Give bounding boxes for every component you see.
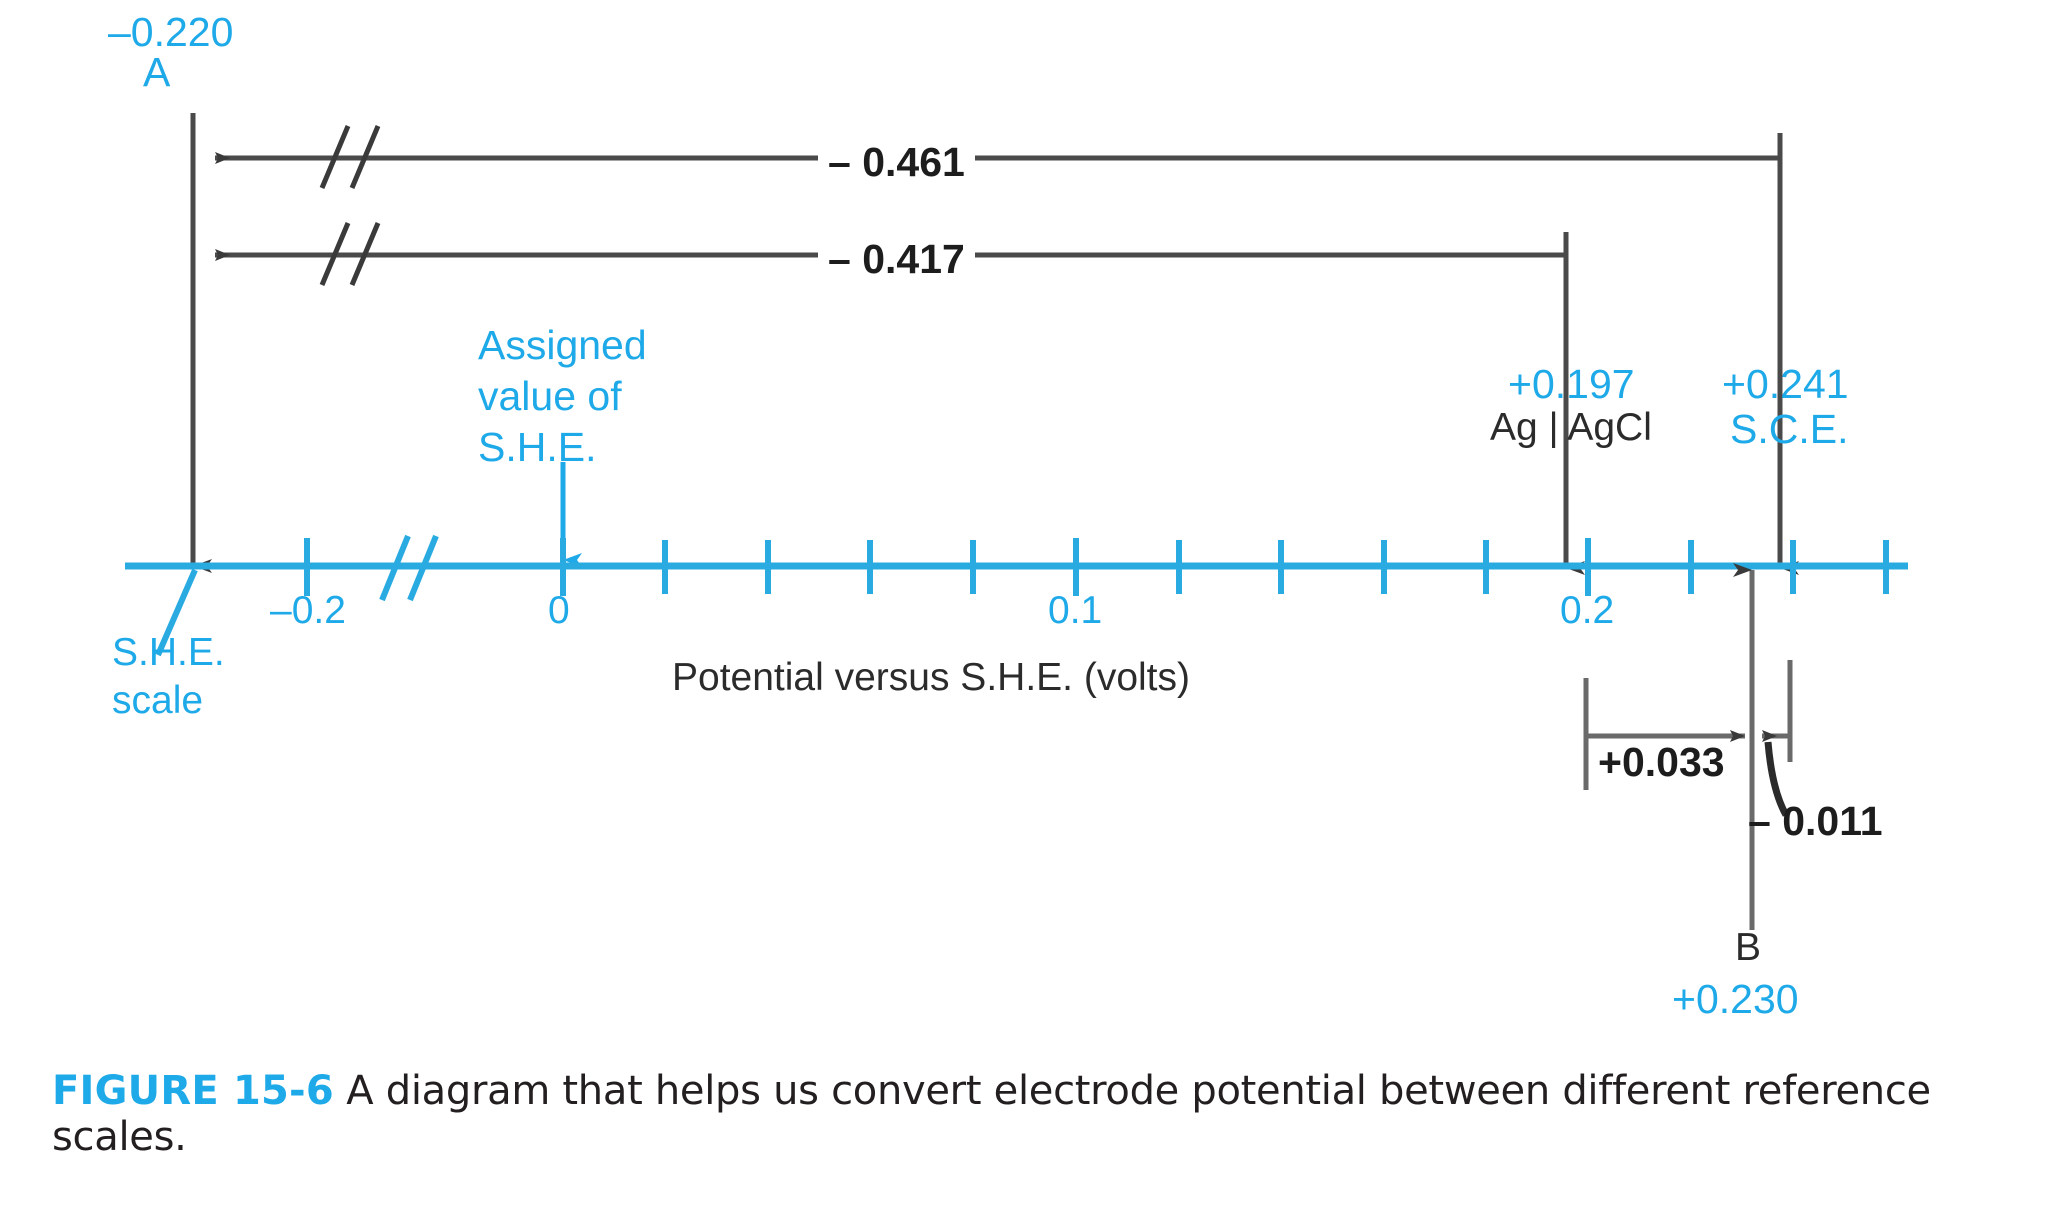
figure-caption: FIGURE 15-6 A diagram that helps us conv… xyxy=(52,1068,2012,1160)
point-b-name: B xyxy=(1735,925,1761,971)
she-scale-line1: S.H.E. xyxy=(112,630,225,676)
span-line-0461 xyxy=(215,126,1780,560)
sce-value: +0.241 xyxy=(1722,360,1849,408)
sce-name: S.C.E. xyxy=(1730,405,1848,453)
span-label-0461: – 0.461 xyxy=(818,138,975,186)
ag-agcl-value: +0.197 xyxy=(1508,360,1635,408)
point-b-value: +0.230 xyxy=(1672,975,1799,1023)
span-label-0033: +0.033 xyxy=(1598,738,1725,786)
assigned-she-line1: Assigned xyxy=(478,320,647,372)
she-scale-line2: scale xyxy=(112,678,203,724)
span-label-0417: – 0.417 xyxy=(818,235,975,283)
axis-tick-label-neg02: –0.2 xyxy=(270,588,346,634)
ag-agcl-name: Ag | AgCl xyxy=(1490,405,1652,451)
figure-number: FIGURE 15-6 xyxy=(52,1068,334,1114)
axis-tick-label-zero: 0 xyxy=(548,588,570,634)
axis-title: Potential versus S.H.E. (volts) xyxy=(672,655,1190,701)
axis-tick-label-02: 0.2 xyxy=(1560,588,1614,634)
point-a-name: A xyxy=(143,48,170,96)
assigned-she-line2: value of xyxy=(478,371,622,423)
assigned-she-line3: S.H.E. xyxy=(478,422,596,474)
span-label-0011: – 0.011 xyxy=(1748,797,1883,845)
potential-axis xyxy=(125,536,1908,655)
axis-tick-label-01: 0.1 xyxy=(1048,588,1102,634)
span-line-0011 xyxy=(1762,660,1790,815)
point-a-value: –0.220 xyxy=(108,8,233,56)
figure-container: –0.220 A – 0.461 – 0.417 Assigned value … xyxy=(0,0,2046,1212)
